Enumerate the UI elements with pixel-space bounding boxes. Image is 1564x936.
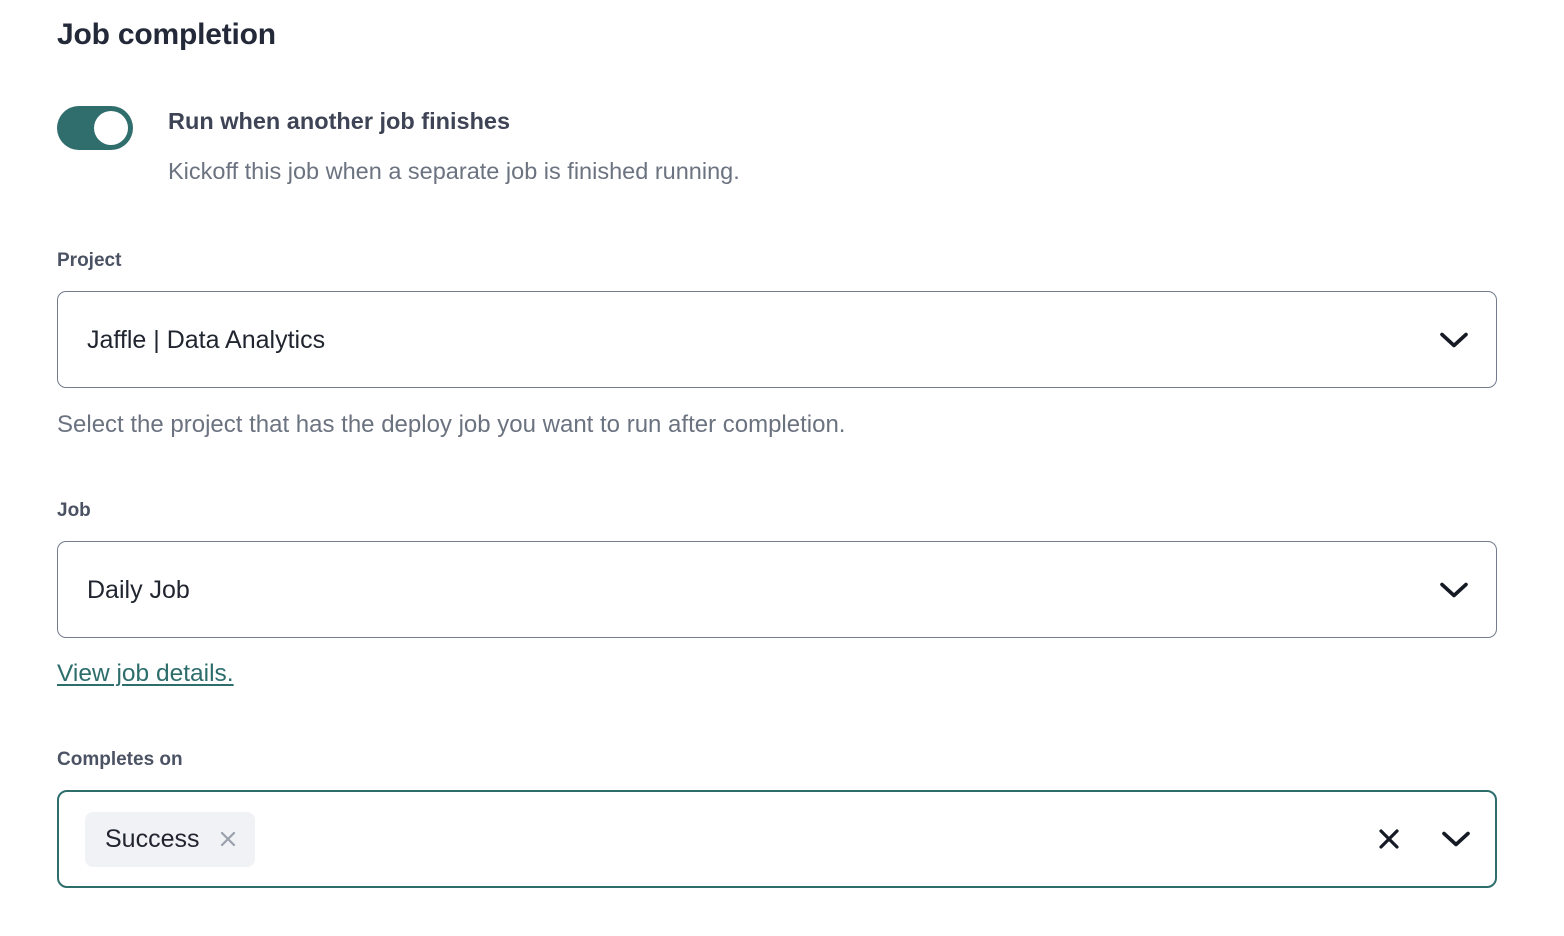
chevron-down-icon[interactable] (1417, 792, 1495, 887)
completes-on-label: Completes on (57, 748, 183, 772)
selected-tags-container: Success (59, 812, 1361, 867)
view-job-details-link[interactable]: View job details. (57, 659, 234, 689)
job-select-value: Daily Job (58, 575, 1412, 605)
tag-label: Success (105, 824, 199, 854)
job-completion-panel: Job completion Run when another job fini… (0, 0, 1564, 936)
chevron-down-icon[interactable] (1412, 542, 1496, 637)
clear-selection-close-icon[interactable] (1361, 792, 1417, 887)
run-when-another-job-finishes-row: Run when another job finishes Kickoff th… (57, 106, 740, 187)
project-helper-text: Select the project that has the deploy j… (57, 410, 845, 440)
chevron-down-icon[interactable] (1412, 292, 1496, 387)
tag-success: Success (85, 812, 255, 867)
toggle-description: Kickoff this job when a separate job is … (168, 156, 740, 187)
toggle-text-block: Run when another job finishes Kickoff th… (168, 106, 740, 187)
completes-on-multiselect[interactable]: Success (57, 790, 1497, 888)
close-icon[interactable] (215, 826, 241, 852)
job-select[interactable]: Daily Job (57, 541, 1497, 638)
project-select[interactable]: Jaffle | Data Analytics (57, 291, 1497, 388)
toggle-knob (94, 111, 128, 145)
run-when-another-job-finishes-toggle[interactable] (57, 106, 133, 150)
project-label: Project (57, 249, 121, 273)
page-title: Job completion (57, 15, 276, 55)
project-select-value: Jaffle | Data Analytics (58, 325, 1412, 355)
job-label: Job (57, 499, 91, 523)
toggle-label: Run when another job finishes (168, 106, 740, 137)
